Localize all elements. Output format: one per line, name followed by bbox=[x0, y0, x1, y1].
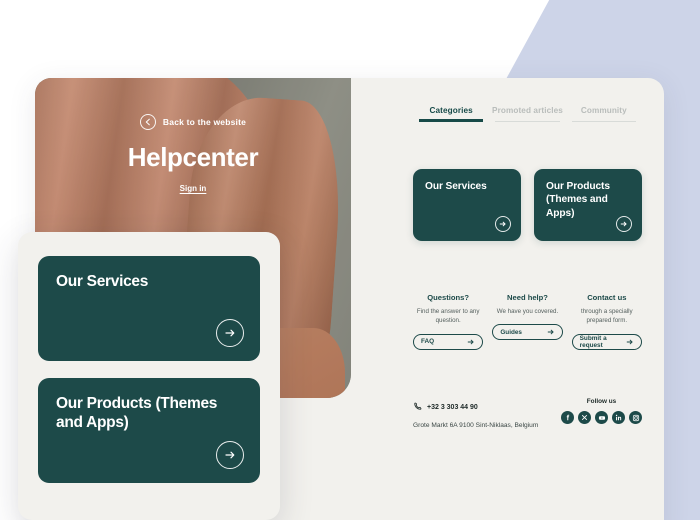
submit-request-button[interactable]: Submit a request bbox=[572, 334, 642, 350]
tab-underline bbox=[419, 119, 483, 122]
category-card-our-services[interactable]: Our Services bbox=[413, 169, 521, 241]
help-title: Questions? bbox=[427, 293, 469, 302]
tab-promoted-articles-label: Promoted articles bbox=[489, 106, 565, 115]
arrow-right-icon[interactable] bbox=[495, 216, 511, 232]
help-column-questions: Questions? Find the answer to any questi… bbox=[413, 293, 483, 350]
youtube-icon[interactable] bbox=[595, 411, 608, 424]
back-to-website-link[interactable]: Back to the website bbox=[140, 114, 246, 130]
tab-promoted-articles[interactable]: Promoted articles bbox=[489, 106, 565, 122]
category-card-title: Our Products (Themes and Apps) bbox=[546, 180, 630, 220]
x-twitter-icon[interactable] bbox=[578, 411, 591, 424]
tab-categories-label: Categories bbox=[413, 106, 489, 115]
category-card-grid: Our Services Our Products (Themes and Ap… bbox=[413, 169, 642, 241]
tab-bar: Categories Promoted articles Community bbox=[413, 106, 642, 122]
phone-row[interactable]: +32 3 303 44 90 bbox=[413, 398, 538, 416]
tab-categories[interactable]: Categories bbox=[413, 106, 489, 122]
arrow-right-icon bbox=[547, 323, 555, 341]
footer-contact: +32 3 303 44 90 Grote Markt 6A 9100 Sint… bbox=[413, 398, 538, 429]
tab-community-label: Community bbox=[566, 106, 642, 115]
arrow-right-icon[interactable] bbox=[616, 216, 632, 232]
help-column-need-help: Need help? We have you covered. Guides bbox=[492, 293, 562, 350]
phone-icon bbox=[413, 398, 422, 416]
overlay-card-title: Our Services bbox=[56, 272, 242, 291]
back-to-website-label: Back to the website bbox=[163, 117, 246, 127]
tab-community[interactable]: Community bbox=[566, 106, 642, 122]
help-description: Find the answer to any question. bbox=[413, 307, 483, 326]
facebook-icon[interactable] bbox=[561, 411, 574, 424]
content-column: Categories Promoted articles Community O… bbox=[391, 78, 664, 520]
page-title: Helpcenter bbox=[128, 142, 258, 173]
category-card-our-products[interactable]: Our Products (Themes and Apps) bbox=[534, 169, 642, 241]
floating-overlay-card: Our Services Our Products (Themes and Ap… bbox=[18, 232, 280, 520]
social-links bbox=[561, 411, 642, 424]
address: Grote Markt 6A 9100 Sint-Niklaas, Belgiu… bbox=[413, 422, 538, 429]
submit-request-button-label: Submit a request bbox=[580, 335, 626, 349]
signin-link[interactable]: Sign in bbox=[180, 184, 207, 193]
help-section: Questions? Find the answer to any questi… bbox=[413, 293, 642, 350]
overlay-card-our-services[interactable]: Our Services bbox=[38, 256, 260, 361]
guides-button-label: Guides bbox=[500, 329, 522, 336]
arrow-right-icon[interactable] bbox=[216, 319, 244, 347]
help-title: Need help? bbox=[507, 293, 548, 302]
help-title: Contact us bbox=[587, 293, 626, 302]
faq-button-label: FAQ bbox=[421, 338, 434, 345]
follow-us-block: Follow us bbox=[561, 398, 642, 424]
overlay-card-our-products[interactable]: Our Products (Themes and Apps) bbox=[38, 378, 260, 483]
arrow-left-icon bbox=[140, 114, 156, 130]
help-description: We have you covered. bbox=[497, 307, 558, 316]
arrow-right-icon bbox=[467, 333, 475, 351]
help-description: through a specially prepared form. bbox=[572, 307, 642, 326]
linkedin-icon[interactable] bbox=[612, 411, 625, 424]
instagram-icon[interactable] bbox=[629, 411, 642, 424]
arrow-right-icon bbox=[626, 333, 634, 351]
faq-button[interactable]: FAQ bbox=[413, 334, 483, 350]
help-column-contact-us: Contact us through a specially prepared … bbox=[572, 293, 642, 350]
tab-underline bbox=[572, 121, 636, 122]
phone-number: +32 3 303 44 90 bbox=[427, 404, 478, 411]
footer: +32 3 303 44 90 Grote Markt 6A 9100 Sint… bbox=[413, 398, 642, 429]
follow-us-label: Follow us bbox=[587, 398, 616, 405]
tab-underline bbox=[495, 121, 559, 122]
overlay-card-title: Our Products (Themes and Apps) bbox=[56, 394, 242, 433]
category-card-title: Our Services bbox=[425, 180, 509, 193]
guides-button[interactable]: Guides bbox=[492, 324, 562, 340]
arrow-right-icon[interactable] bbox=[216, 441, 244, 469]
